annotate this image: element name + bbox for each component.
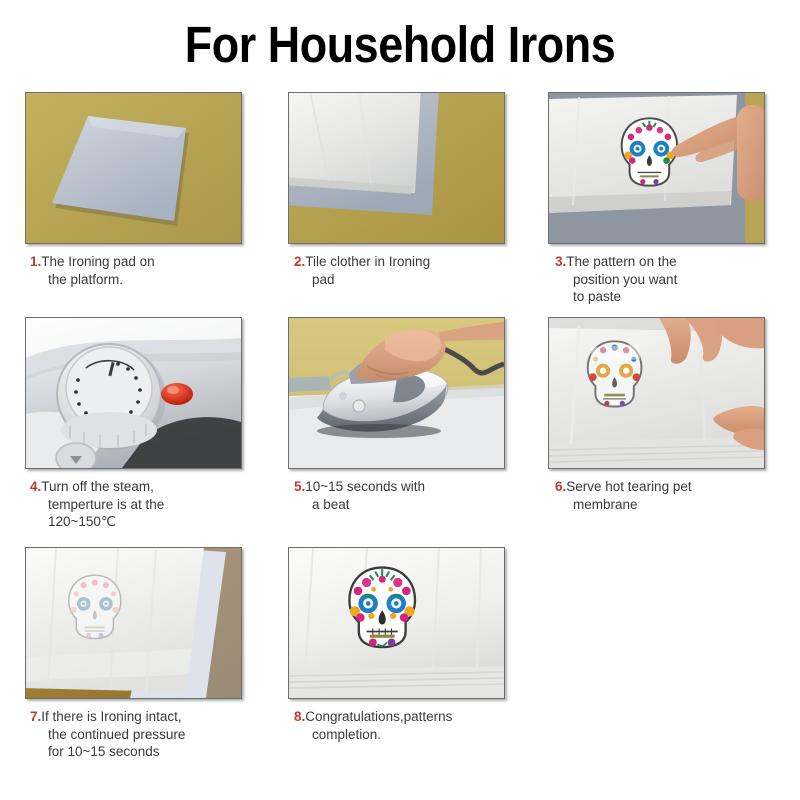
step-text-4: Turn off the steam, temperture is at the… [41,479,164,529]
step-caption-3: 3.The pattern on the position you want t… [545,253,793,306]
page-title: For Household Irons [48,14,752,76]
step-card-7: 7.If there is Ironing intact, the contin… [22,547,270,761]
photo-check-transfer-intact [25,547,242,699]
step-card-5: 5.10~15 seconds with a beat [284,317,532,513]
step-caption-8: 8.Congratulations,patterns completion. [284,708,532,743]
step-text-7: If there is Ironing intact, the continue… [41,709,185,759]
photo-cloth-tiled-on-pad [288,92,505,244]
step-number-3: 3. [555,254,566,269]
step-number-7: 7. [30,709,41,724]
instruction-sheet: For Household Irons [0,0,800,800]
step-text-2: Tile clother in Ironing pad [305,254,430,287]
step-card-1: 1.The Ironing pad on the platform. [22,92,270,288]
photo-ironing-pad-on-platform [25,92,242,244]
step-card-3: 3.The pattern on the position you want t… [545,92,793,306]
step-number-6: 6. [555,479,566,494]
step-number-5: 5. [294,479,305,494]
steps-row-1: 1.The Ironing pad on the platform. [0,92,800,317]
step-caption-4: 4.Turn off the steam, temperture is at t… [22,478,270,531]
steps-row-2: 4.Turn off the steam, temperture is at t… [0,317,800,547]
photo-iron-temperature-dial [25,317,242,469]
step-card-6: 6.Serve hot tearing pet membrane [545,317,793,513]
step-number-2: 2. [294,254,305,269]
step-caption-5: 5.10~15 seconds with a beat [284,478,532,513]
step-text-3: The pattern on the position you want to … [566,254,677,304]
steps-row-3: 7.If there is Ironing intact, the contin… [0,547,800,767]
photo-completed-pattern [288,547,505,699]
step-card-8: 8.Congratulations,patterns completion. [284,547,532,743]
step-text-8: Congratulations,patterns completion. [305,709,452,742]
step-caption-1: 1.The Ironing pad on the platform. [22,253,270,288]
step-card-2: 2.Tile clother in Ironing pad [284,92,532,288]
step-text-1: The Ironing pad on the platform. [41,254,154,287]
step-text-5: 10~15 seconds with a beat [305,479,425,512]
step-caption-7: 7.If there is Ironing intact, the contin… [22,708,270,761]
step-caption-6: 6.Serve hot tearing pet membrane [545,478,793,513]
photo-peeling-pet-membrane [548,317,765,469]
step-text-6: Serve hot tearing pet membrane [566,479,691,512]
step-number-4: 4. [30,479,41,494]
step-number-8: 8. [294,709,305,724]
step-card-4: 4.Turn off the steam, temperture is at t… [22,317,270,531]
steps-grid: 1.The Ironing pad on the platform. [0,92,800,767]
photo-pattern-positioned [548,92,765,244]
photo-pressing-with-iron [288,317,505,469]
step-number-1: 1. [30,254,41,269]
step-caption-2: 2.Tile clother in Ironing pad [284,253,532,288]
